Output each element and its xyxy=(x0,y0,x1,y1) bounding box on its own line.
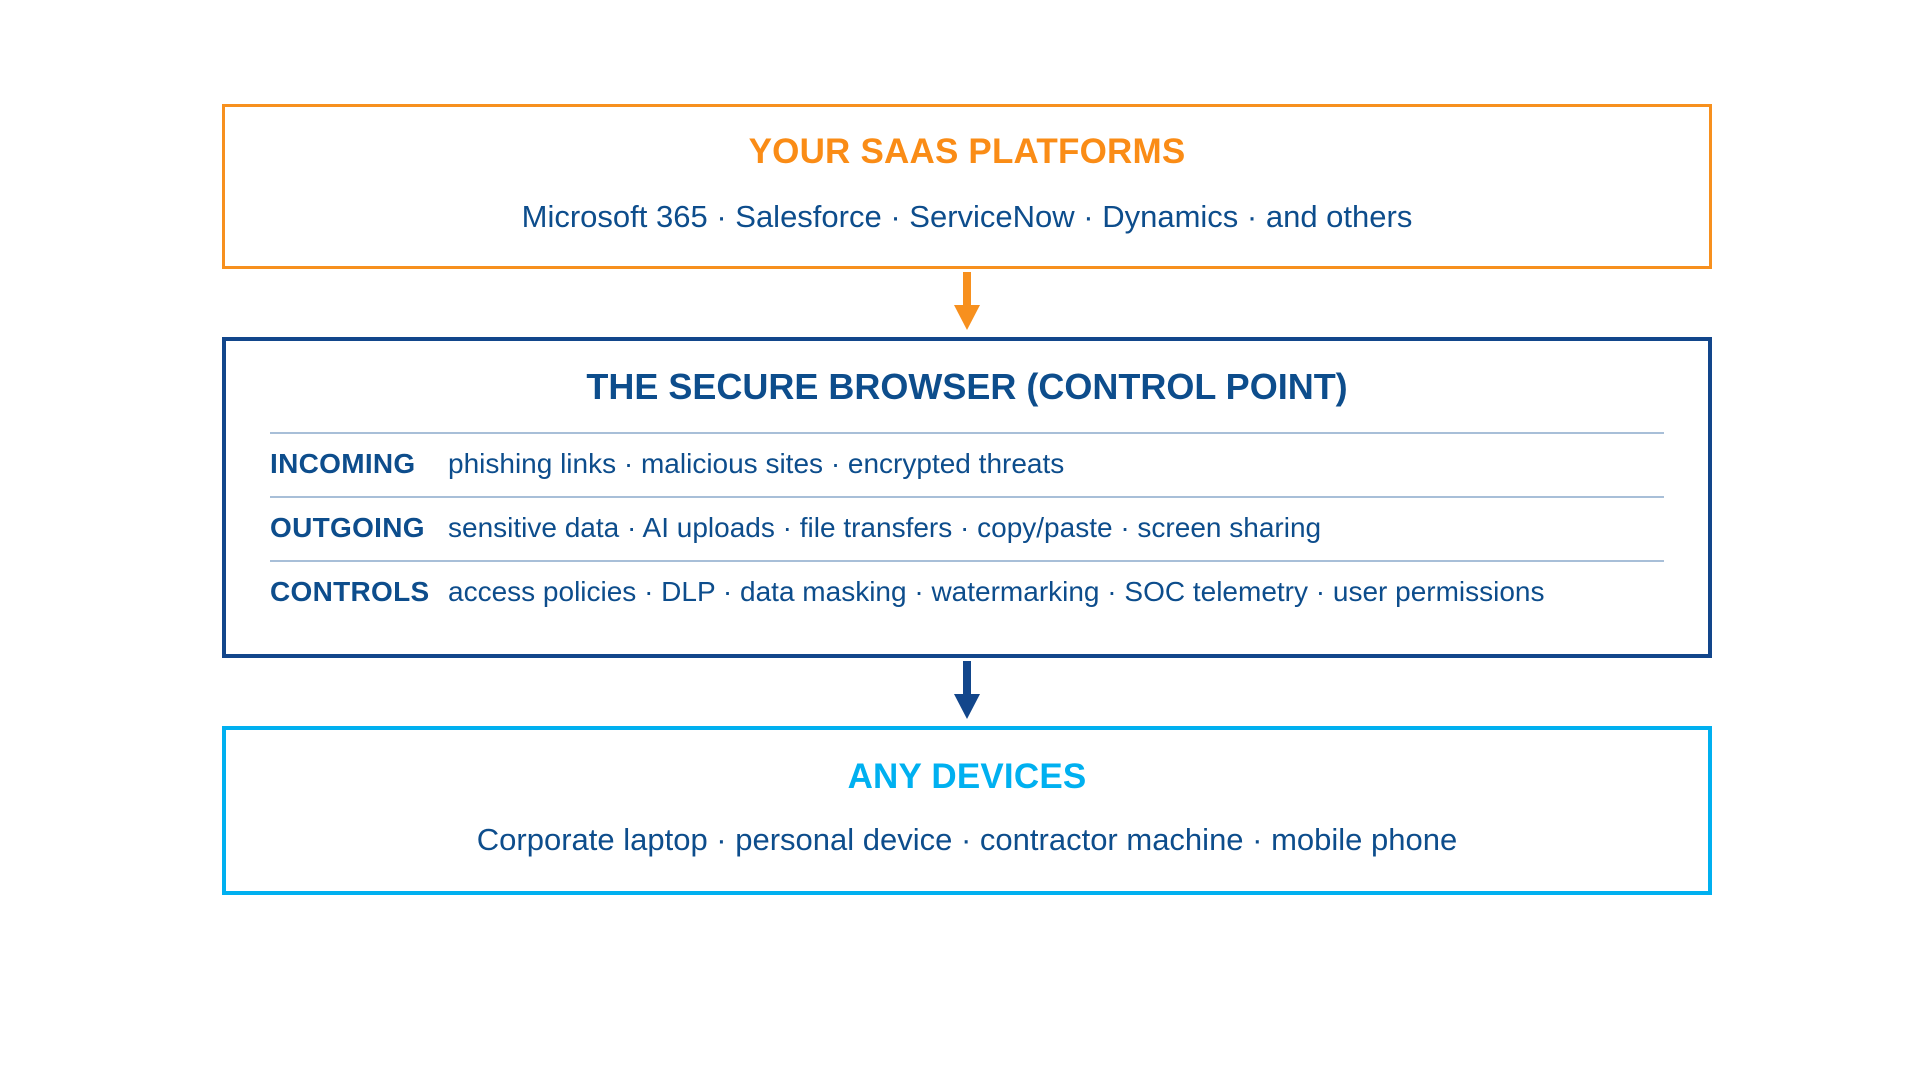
row-incoming-label: INCOMING xyxy=(270,448,448,480)
row-outgoing: OUTGOING sensitive data · AI uploads · f… xyxy=(270,496,1664,560)
secure-browser-title: THE SECURE BROWSER (CONTROL POINT) xyxy=(254,367,1680,407)
any-devices-list: Corporate laptop · personal device · con… xyxy=(256,823,1678,857)
row-incoming-items: phishing links · malicious sites · encry… xyxy=(448,448,1064,480)
saas-platforms-box: YOUR SAAS PLATFORMS Microsoft 365 · Sale… xyxy=(222,104,1712,269)
down-arrow-icon xyxy=(952,272,982,334)
secure-browser-box: THE SECURE BROWSER (CONTROL POINT) INCOM… xyxy=(222,337,1712,659)
connector-saas-to-browser xyxy=(222,269,1712,337)
row-incoming: INCOMING phishing links · malicious site… xyxy=(270,432,1664,496)
secure-browser-rows: INCOMING phishing links · malicious site… xyxy=(270,432,1664,624)
row-controls-label: CONTROLS xyxy=(270,576,448,608)
row-controls-items: access policies · DLP · data masking · w… xyxy=(448,576,1545,608)
down-arrow-icon xyxy=(952,661,982,723)
row-outgoing-items: sensitive data · AI uploads · file trans… xyxy=(448,512,1321,544)
any-devices-box: ANY DEVICES Corporate laptop · personal … xyxy=(222,726,1712,895)
saas-platforms-list: Microsoft 365 · Salesforce · ServiceNow … xyxy=(255,200,1679,234)
any-devices-title: ANY DEVICES xyxy=(256,758,1678,797)
saas-platforms-title: YOUR SAAS PLATFORMS xyxy=(255,133,1679,172)
diagram-canvas: YOUR SAAS PLATFORMS Microsoft 365 · Sale… xyxy=(0,0,1920,1080)
row-controls: CONTROLS access policies · DLP · data ma… xyxy=(270,560,1664,624)
row-outgoing-label: OUTGOING xyxy=(270,512,448,544)
diagram-stack: YOUR SAAS PLATFORMS Microsoft 365 · Sale… xyxy=(222,104,1712,895)
connector-browser-to-devices xyxy=(222,658,1712,726)
